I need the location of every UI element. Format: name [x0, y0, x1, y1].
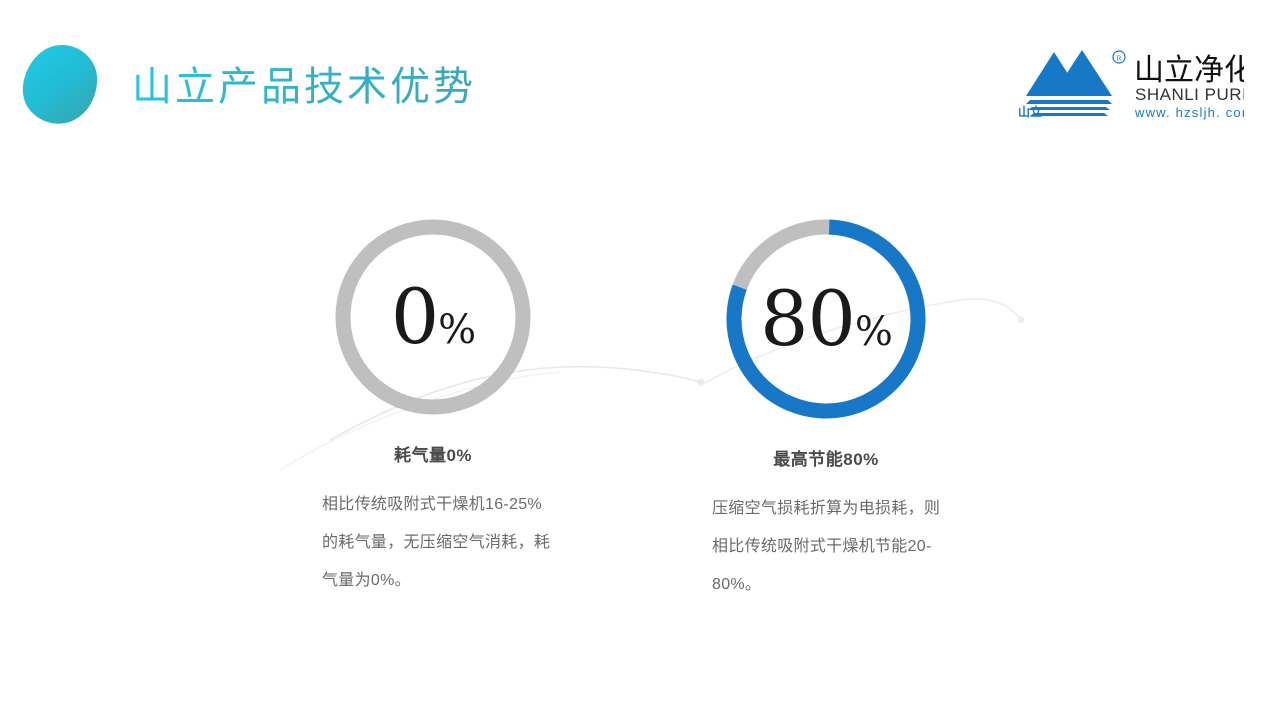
- donut-chart-0-percent: 0%: [330, 214, 536, 420]
- metric-column-energy-saving: 80% 最高节能80% 压缩空气损耗折算为电损耗，则相比传统吸附式干燥机节能20…: [700, 214, 952, 604]
- donut-value-number: 0: [391, 272, 438, 361]
- donut-value-number: 80: [760, 274, 855, 363]
- metric-description: 相比传统吸附式干燥机16-25%的耗气量，无压缩空气消耗，耗气量为0%。: [308, 486, 558, 600]
- metrics-columns: 0% 耗气量0% 相比传统吸附式干燥机16-25%的耗气量，无压缩空气消耗，耗气…: [0, 0, 1280, 720]
- slide-canvas: 山立产品技术优势 R 山立 山立净化 SHANLI PURIFY www. hz…: [0, 0, 1280, 720]
- donut-chart-80-percent: 80%: [721, 214, 931, 424]
- metric-heading: 耗气量0%: [308, 444, 558, 468]
- donut-center-value: 80%: [721, 281, 931, 357]
- donut-center-value: 0%: [330, 279, 536, 355]
- metric-heading: 最高节能80%: [700, 448, 952, 472]
- metric-description: 压缩空气损耗折算为电损耗，则相比传统吸附式干燥机节能20-80%。: [700, 490, 952, 604]
- metric-column-gas-consumption: 0% 耗气量0% 相比传统吸附式干燥机16-25%的耗气量，无压缩空气消耗，耗气…: [308, 214, 558, 600]
- donut-value-percent: %: [438, 307, 475, 353]
- donut-value-percent: %: [855, 309, 892, 355]
